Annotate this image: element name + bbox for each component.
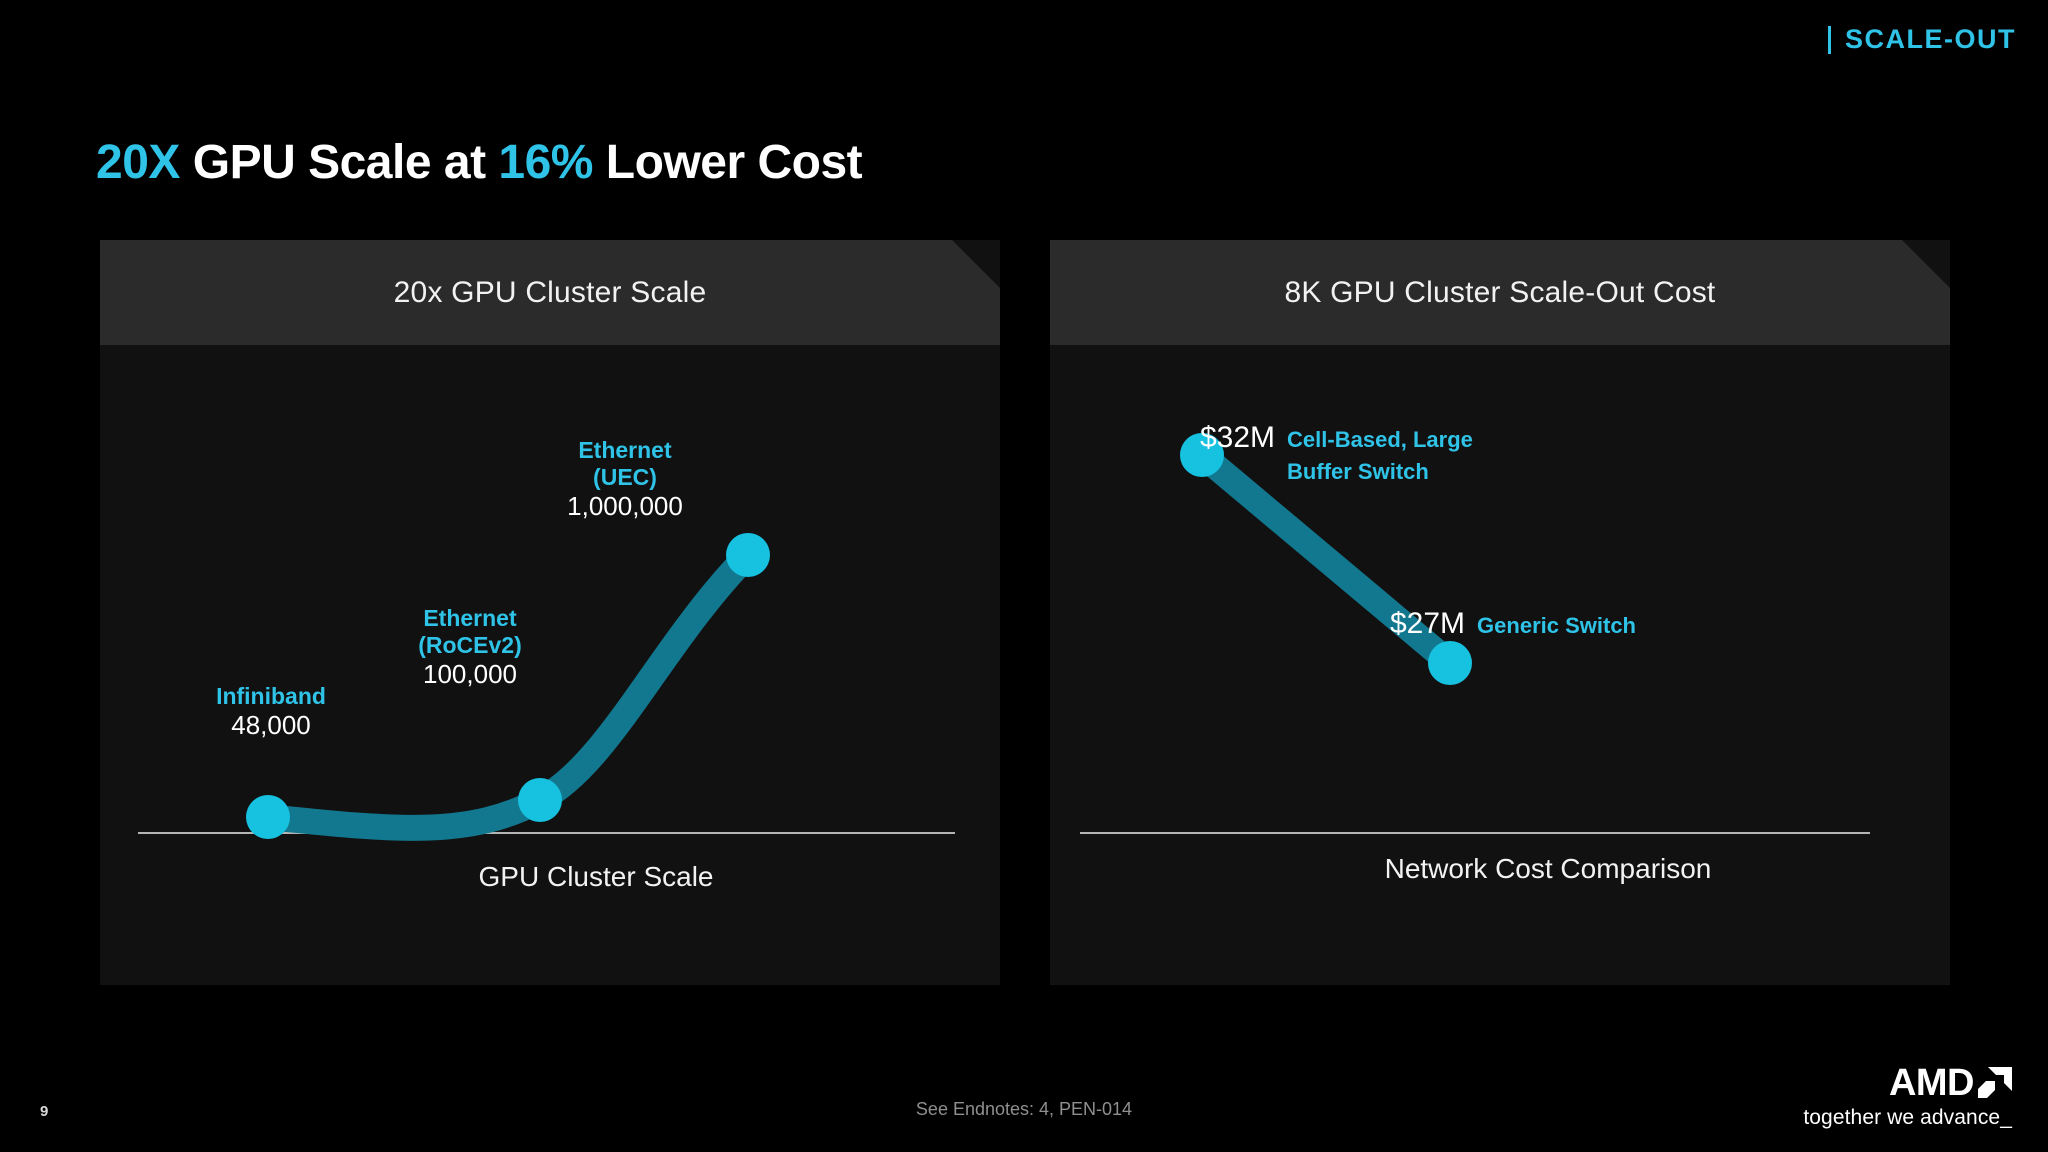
chart-point-uec [726, 533, 770, 577]
amd-logo-text: AMD [1889, 1064, 1974, 1102]
annotation-name-uec-line1: Ethernet [530, 437, 720, 464]
chart-annotation-generic-switch: $27M Generic Switch [1390, 607, 1636, 641]
panel-gpu-cluster-scale: 20x GPU Cluster Scale Infiniband 48,000 … [100, 240, 1000, 985]
annotation-name-cell-based-line2: Buffer Switch [1287, 453, 1473, 485]
amd-tagline: together we advance_ [1803, 1106, 2012, 1130]
annotation-name-generic: Generic Switch [1477, 607, 1636, 639]
chart-annotation-infiniband: Infiniband 48,000 [176, 683, 366, 741]
chart-point-rocev2 [518, 778, 562, 822]
annotation-name-cell-based: Cell-Based, Large Buffer Switch [1287, 421, 1473, 485]
panel-header-left: 20x GPU Cluster Scale [100, 240, 1000, 345]
annotation-name-uec-line2: (UEC) [530, 464, 720, 491]
annotation-value-rocev2: 100,000 [375, 659, 565, 690]
panel-header-right: 8K GPU Cluster Scale-Out Cost [1050, 240, 1950, 345]
amd-wordmark: AMD [1803, 1064, 2012, 1102]
chart-annotation-uec: Ethernet (UEC) 1,000,000 [530, 437, 720, 522]
eyebrow-divider-icon [1828, 26, 1831, 54]
chart-annotation-rocev2: Ethernet (RoCEv2) 100,000 [375, 605, 565, 690]
chart-point-generic-switch [1428, 641, 1472, 685]
title-segment-2: GPU Scale at [180, 136, 498, 189]
annotation-value-uec: 1,000,000 [530, 491, 720, 522]
panel-body-left: Infiniband 48,000 Ethernet (RoCEv2) 100,… [100, 345, 1000, 985]
panel-body-right: $32M Cell-Based, Large Buffer Switch $27… [1050, 345, 1950, 985]
annotation-name-rocev2-line1: Ethernet [375, 605, 565, 632]
amd-arrow-icon [1978, 1067, 2012, 1099]
panel-title-right: 8K GPU Cluster Scale-Out Cost [1285, 276, 1716, 310]
chart-scale-out-cost [1050, 345, 1950, 985]
eyebrow-label: SCALE-OUT [1845, 24, 2016, 55]
chart-xaxis-caption-left: GPU Cluster Scale [100, 861, 1046, 893]
annotation-name-infiniband: Infiniband [176, 683, 366, 710]
amd-logo: AMD together we advance_ [1803, 1064, 2012, 1130]
title-highlight-16pct: 16% [498, 136, 593, 189]
annotation-value-generic: $27M [1390, 607, 1465, 641]
chart-annotation-cell-based-switch: $32M Cell-Based, Large Buffer Switch [1200, 421, 1473, 485]
chart-xaxis-caption-right: Network Cost Comparison [1050, 853, 1998, 885]
slide-eyebrow: SCALE-OUT [1828, 24, 2016, 55]
annotation-name-cell-based-line1: Cell-Based, Large [1287, 421, 1473, 453]
panel-title-left: 20x GPU Cluster Scale [394, 276, 707, 310]
annotation-name-rocev2-line2: (RoCEv2) [375, 632, 565, 659]
endnotes-reference: See Endnotes: 4, PEN-014 [0, 1099, 2048, 1120]
title-segment-4: Lower Cost [593, 136, 862, 189]
slide-title: 20X GPU Scale at 16% Lower Cost [96, 135, 862, 190]
title-highlight-20x: 20X [96, 136, 180, 189]
panel-scale-out-cost: 8K GPU Cluster Scale-Out Cost $32M Cell-… [1050, 240, 1950, 985]
annotation-value-cell-based: $32M [1200, 421, 1275, 455]
annotation-value-infiniband: 48,000 [176, 710, 366, 741]
chart-point-infiniband [246, 795, 290, 839]
